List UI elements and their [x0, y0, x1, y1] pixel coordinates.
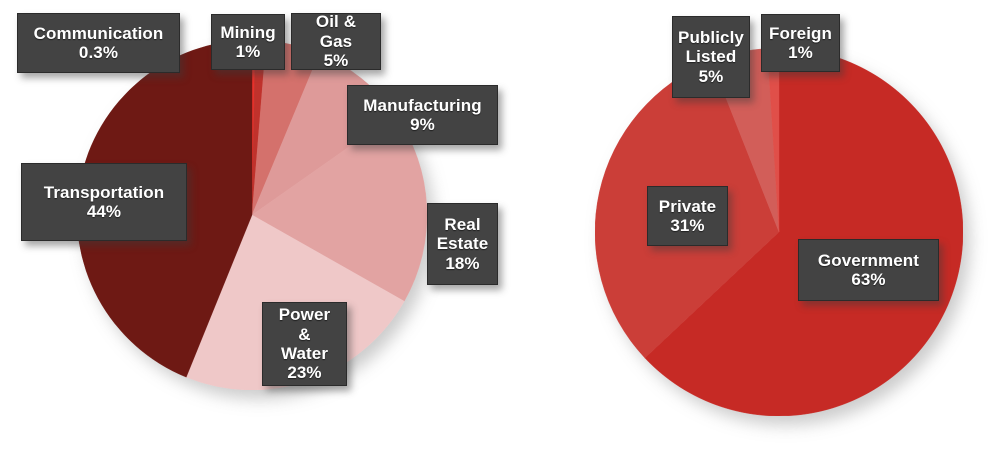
- callout-mining-value: 1%: [236, 42, 261, 61]
- callout-communication[interactable]: Communication 0.3%: [17, 13, 180, 73]
- callout-manufacturing-name: Manufacturing: [363, 96, 481, 115]
- callout-government-name: Government: [818, 251, 919, 270]
- callout-private[interactable]: Private 31%: [647, 186, 728, 246]
- callout-power-water[interactable]: Power & Water 23%: [262, 302, 347, 386]
- callout-mining[interactable]: Mining 1%: [211, 14, 285, 70]
- callout-oil-gas[interactable]: Oil & Gas 5%: [291, 13, 381, 70]
- callout-publicly-listed[interactable]: Publicly Listed 5%: [672, 16, 750, 98]
- callout-government[interactable]: Government 63%: [798, 239, 939, 301]
- callout-foreign-name: Foreign: [769, 24, 832, 43]
- callout-private-name: Private: [659, 197, 716, 216]
- callout-real-estate-value: 18%: [445, 254, 479, 273]
- callout-manufacturing[interactable]: Manufacturing 9%: [347, 85, 498, 145]
- callout-power-water-name: Power & Water: [271, 305, 338, 363]
- callout-oil-gas-name: Oil & Gas: [300, 12, 372, 51]
- callout-foreign-value: 1%: [788, 43, 813, 62]
- callout-power-water-value: 23%: [287, 363, 321, 382]
- callout-oil-gas-value: 5%: [324, 51, 349, 70]
- callout-private-value: 31%: [670, 216, 704, 235]
- callout-government-value: 63%: [851, 270, 885, 289]
- callout-manufacturing-value: 9%: [410, 115, 435, 134]
- callout-transportation[interactable]: Transportation 44%: [21, 163, 187, 241]
- chart-canvas: Communication 0.3% Mining 1% Oil & Gas 5…: [0, 0, 1000, 460]
- callout-mining-name: Mining: [220, 23, 275, 42]
- callout-real-estate[interactable]: Real Estate 18%: [427, 203, 498, 285]
- callout-foreign[interactable]: Foreign 1%: [761, 14, 840, 72]
- callout-transportation-name: Transportation: [44, 183, 164, 202]
- callout-transportation-value: 44%: [87, 202, 121, 221]
- callout-publicly-listed-value: 5%: [699, 67, 724, 86]
- callout-real-estate-name: Real Estate: [437, 215, 489, 254]
- callout-communication-value: 0.3%: [79, 43, 118, 62]
- callout-publicly-listed-name: Publicly Listed: [678, 28, 744, 67]
- callout-communication-name: Communication: [34, 24, 164, 43]
